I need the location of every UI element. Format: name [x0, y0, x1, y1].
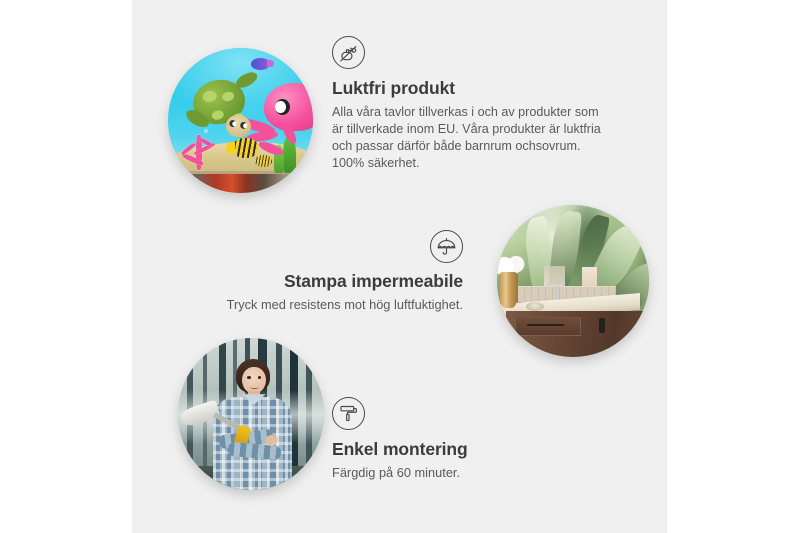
yellow-striped-fish: [232, 138, 258, 158]
eye: [247, 376, 251, 379]
feature-body: Alla våra tavlor tillverkas i och av pro…: [332, 104, 610, 172]
bathroom-leaf-wallpaper-photo: [497, 205, 649, 357]
cabinet-handle: [599, 318, 604, 334]
feature-title: Enkel montering: [332, 439, 612, 460]
woman-with-paint-roller-photo: [178, 338, 324, 490]
paint-roller-icon: [332, 397, 365, 430]
no-odour-spray-bottle-icon: [332, 36, 365, 69]
feature-body: Tryck med resistens mot hög luftfuktighe…: [180, 296, 463, 313]
feature-block-waterproof: Stampa impermeabile Tryck med resistens …: [180, 230, 463, 313]
underwater-kids-scene-photo: [168, 48, 313, 193]
eye: [258, 376, 262, 379]
pink-coral: [177, 123, 226, 169]
feature-title: Stampa impermeabile: [180, 271, 463, 292]
product-features-panel: Luktfri produkt Alla våra tavlor tillver…: [0, 0, 800, 533]
woman-figure: [178, 338, 324, 490]
umbrella-icon: [430, 230, 463, 263]
face: [242, 367, 265, 394]
feature-block-easy-mounting: Enkel montering Färgdig på 60 minuter.: [332, 397, 612, 481]
feature-block-odourless: Luktfri produkt Alla våra tavlor tillver…: [332, 36, 622, 172]
purple-fish: [251, 58, 270, 70]
photo-bottom-edge: [168, 174, 313, 193]
faucet: [555, 284, 559, 301]
small-yellow-fish: [255, 155, 272, 167]
feature-body: Färgdig på 60 minuter.: [332, 464, 612, 481]
octopus-eye: [275, 99, 290, 115]
wood-vanity-cabinet: [506, 311, 649, 357]
gold-vase: [499, 272, 519, 308]
hand: [266, 435, 278, 446]
drawer-handle: [527, 324, 565, 326]
feature-title: Luktfri produkt: [332, 78, 622, 99]
